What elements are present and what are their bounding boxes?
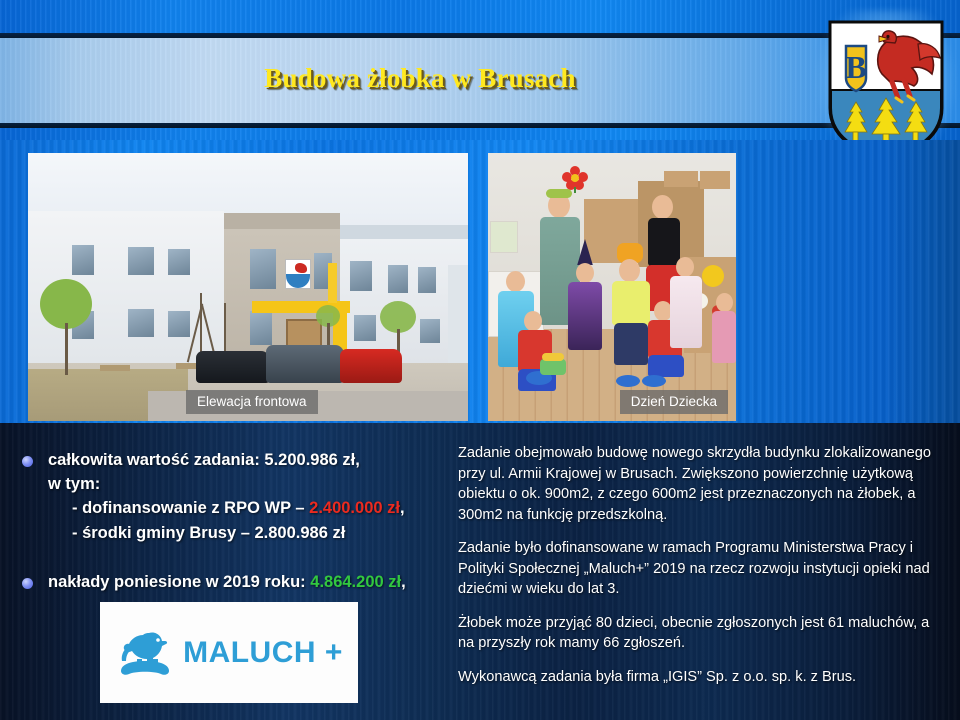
photo-dzien-dziecka: Dzień Dziecka bbox=[488, 153, 736, 421]
svg-text:B: B bbox=[845, 49, 866, 85]
bullet-1-line-1: całkowita wartość zadania: 5.200.986 zł, bbox=[48, 448, 450, 472]
paragraph-3: Żłobek może przyjąć 80 dzieci, obecnie z… bbox=[458, 613, 936, 654]
maluch-logo-text: MALUCH + bbox=[183, 636, 343, 670]
rocking-horse-icon bbox=[115, 625, 177, 681]
paragraph-1: Zadanie obejmowało budowę nowego skrzydł… bbox=[458, 443, 936, 525]
bullet-2-text: nakłady poniesione w 2019 roku: 4.864.20… bbox=[48, 570, 450, 594]
bullet-list: całkowita wartość zadania: 5.200.986 zł,… bbox=[0, 448, 450, 594]
bullet-1-sub-1-amount: 2.400.000 zł bbox=[309, 499, 400, 517]
bullet-2-amount: 4.864.200 zł bbox=[310, 573, 401, 591]
bullet-1-sub-1-tail: , bbox=[400, 499, 405, 517]
description-text-block: Zadanie obejmowało budowę nowego skrzydł… bbox=[458, 443, 936, 700]
slide-root: Budowa żłobka w Brusach B bbox=[0, 0, 960, 720]
bullet-dot-icon bbox=[22, 578, 33, 589]
building-crest-icon bbox=[285, 259, 311, 289]
page-title: Budowa żłobka w Brusach bbox=[0, 63, 840, 94]
paragraph-4: Wykonawcą zadania była firma „IGIS” Sp. … bbox=[458, 667, 936, 688]
bullet-dot-icon bbox=[22, 456, 33, 467]
bullet-1-line-2: w tym: bbox=[48, 472, 450, 496]
bullet-2-label: nakłady poniesione w 2019 roku: bbox=[48, 573, 310, 591]
photo-elewacja-frontowa: Elewacja frontowa bbox=[28, 153, 468, 421]
paragraph-2: Zadanie było dofinansowane w ramach Prog… bbox=[458, 538, 936, 600]
bullet-1-sub-1: - dofinansowanie z RPO WP – 2.400.000 zł… bbox=[72, 496, 450, 521]
bullet-item-1: całkowita wartość zadania: 5.200.986 zł,… bbox=[0, 448, 450, 546]
maluch-plus-logo: MALUCH + bbox=[100, 602, 358, 703]
bullet-1-sub-2: - środki gminy Brusy – 2.800.986 zł bbox=[72, 521, 450, 546]
bullet-1-sub-1-label: - dofinansowanie z RPO WP – bbox=[72, 499, 309, 517]
bullet-item-2: nakłady poniesione w 2019 roku: 4.864.20… bbox=[0, 570, 450, 594]
photo-caption-left: Elewacja frontowa bbox=[186, 390, 318, 414]
photo-caption-right: Dzień Dziecka bbox=[620, 390, 728, 414]
bullet-2-tail: , bbox=[401, 573, 406, 591]
